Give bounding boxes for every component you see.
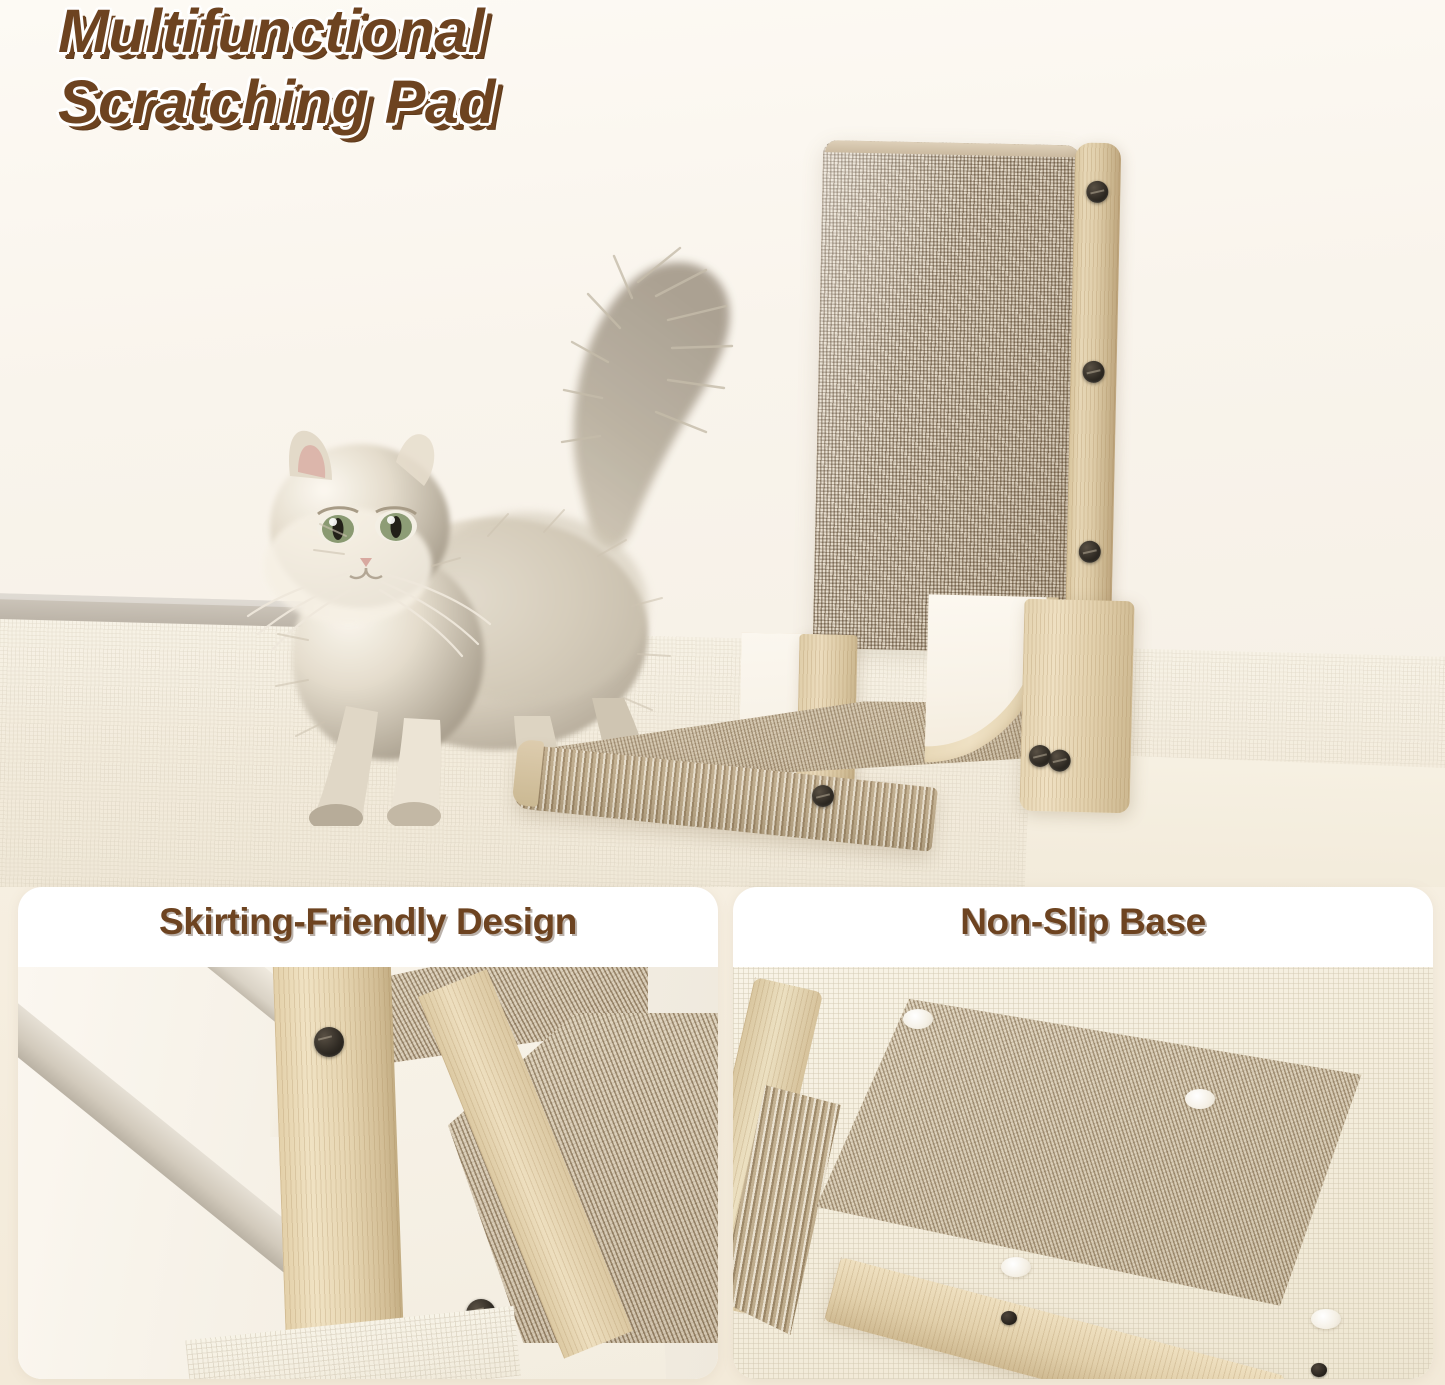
wood-side-panel (273, 967, 406, 1379)
screw-icon (812, 785, 834, 807)
title-line-1: Multifunctional (58, 0, 484, 65)
card-title: Skirting-Friendly Design (18, 901, 718, 943)
right-curved-bracket (1019, 599, 1134, 814)
product-marketing-image: Multifunctional Scratching Pad Skirting-… (0, 0, 1445, 1385)
screw-icon (314, 1027, 344, 1057)
card-photo-non-slip-base (733, 967, 1433, 1379)
hero-photo: Multifunctional Scratching Pad (0, 0, 1445, 887)
non-slip-pad (1185, 1089, 1215, 1109)
bracket-post (1019, 599, 1134, 814)
non-slip-pad (1311, 1309, 1341, 1329)
non-slip-pad (903, 1009, 933, 1029)
screw-icon (1029, 745, 1051, 767)
screw-icon (1311, 1363, 1327, 1377)
wood-grain (1019, 599, 1134, 814)
screw-icon (1001, 1311, 1017, 1325)
feature-card-non-slip-base: Non-Slip Base (733, 887, 1433, 1379)
vertical-corrugated-pad (813, 140, 1082, 653)
feature-cards: Skirting-Friendly Design (0, 887, 1445, 1385)
non-slip-pad (1001, 1257, 1031, 1277)
card-photo-skirting-friendly (18, 967, 718, 1379)
page-title: Multifunctional Scratching Pad (58, 2, 818, 132)
feature-card-skirting-friendly: Skirting-Friendly Design (18, 887, 718, 1379)
vertical-scratching-panel (813, 140, 1104, 654)
card-title: Non-Slip Base (733, 901, 1433, 943)
wood-grain (273, 967, 406, 1379)
title-line-2: Scratching Pad (58, 73, 818, 132)
corrugated-sheen (813, 140, 1082, 653)
